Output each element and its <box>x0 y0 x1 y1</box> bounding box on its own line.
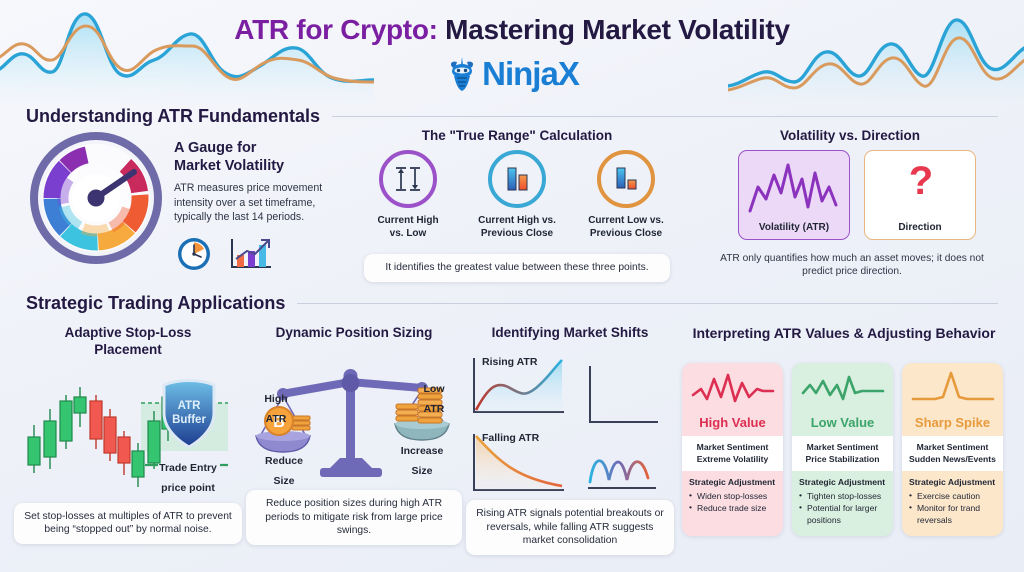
page-title: ATR for Crypto: Mastering Market Volatil… <box>0 14 1024 46</box>
panel3-title: Identifying Market Shifts <box>466 325 674 342</box>
clock-icon <box>176 236 212 272</box>
card-sentiment: Market Sentiment Sudden News/Events <box>902 436 1003 471</box>
rising-atr-label: Rising ATR <box>482 352 537 370</box>
low-atr-line2: ATR <box>424 403 445 415</box>
reduce-size-line1: Reduce <box>265 455 303 467</box>
increase-size-line1: Increase <box>401 445 444 457</box>
true-range-title: The "True Range" Calculation <box>352 128 682 145</box>
panel1-title-line2: Placement <box>94 342 162 357</box>
section-divider <box>332 116 998 117</box>
section-title-strategic: Strategic Trading Applications <box>26 293 285 314</box>
bar-chart-growth-icon <box>228 236 274 272</box>
card-sentiment: Market Sentiment Price Stabilization <box>792 436 893 471</box>
gauge-heading-line1: A Gauge for <box>174 140 256 156</box>
panel1-caption: Set stop-losses at multiples of ATR to p… <box>14 503 242 544</box>
gauge-heading-line2: Market Volatility <box>174 158 284 174</box>
low-volatility-sparkline <box>792 363 893 415</box>
true-range-block: The "True Range" Calculation Current Hig… <box>352 128 682 288</box>
true-range-item: Current High vs. Low <box>358 150 458 241</box>
sentiment-value: Extreme Volatility <box>697 454 768 464</box>
two-bars-equal-icon <box>488 150 546 208</box>
brand-name: NinjaX <box>482 55 579 93</box>
page-title-rest: Mastering Market Volatility <box>438 14 790 45</box>
sentiment-label: Market Sentiment <box>807 442 879 452</box>
card-low-value: Low Value Market Sentiment Price Stabili… <box>792 363 893 536</box>
panel4-title: Interpreting ATR Values & Adjusting Beha… <box>678 325 1010 343</box>
gauge-mini-icons <box>176 236 274 272</box>
sentiment-value: Sudden News/Events <box>909 454 996 464</box>
volatility-direction-title: Volatility vs. Direction <box>700 128 1000 145</box>
panel-dynamic-position-sizing: Dynamic Position Sizing <box>246 325 462 545</box>
brand-logo: NinjaX <box>0 55 1024 93</box>
card-high-value: High Value Market Sentiment Extreme Vola… <box>682 363 783 536</box>
falling-atr-label: Falling ATR <box>482 428 539 446</box>
card-sentiment: Market Sentiment Extreme Volatility <box>682 436 783 471</box>
zigzag-volatility-icon <box>746 157 844 219</box>
question-mark-icon: ? <box>865 159 977 204</box>
card-title: Sharp Spike <box>902 415 1003 436</box>
panel-identifying-market-shifts: Identifying Market Shifts <box>466 325 674 555</box>
card-title: High Value <box>682 415 783 436</box>
section-title-fundamentals: Understanding ATR Fundamentals <box>26 106 320 127</box>
ninja-mask-icon <box>445 56 479 92</box>
high-volatility-sparkline <box>682 363 783 415</box>
panel2-title: Dynamic Position Sizing <box>246 325 462 342</box>
true-range-item: Current Low vs. Previous Close <box>576 150 676 241</box>
card-sharp-spike: Sharp Spike Market Sentiment Sudden News… <box>902 363 1003 536</box>
bullet: Widen stop-losses <box>689 491 777 503</box>
sentiment-label: Market Sentiment <box>917 442 989 452</box>
tr-label-line1: Current High <box>377 215 438 226</box>
tr-label-line2: Previous Close <box>481 228 553 239</box>
panel1-title-line1: Adaptive Stop-Loss <box>65 325 192 340</box>
bullet: Potential for larger positions <box>799 503 887 526</box>
true-range-note: It identifies the greatest value between… <box>364 254 670 282</box>
bullet: Tighten stop-losses <box>799 491 887 503</box>
adjust-label: Strategic Adjustment <box>909 477 997 489</box>
candlestick-chart-with-shield: ATR Buffer Trade Entry price point <box>14 365 242 495</box>
page-title-accent: ATR for Crypto: <box>234 14 437 45</box>
volatility-direction-block: Volatility vs. Direction Volatility (ATR… <box>700 128 1000 288</box>
card-title: Low Value <box>792 415 893 436</box>
volatility-direction-footer: ATR only quantifies how much an asset mo… <box>710 252 994 279</box>
card-adjustment: Strategic Adjustment Tighten stop-losses… <box>792 471 893 535</box>
card-adjustment: Strategic Adjustment Exercise caution Mo… <box>902 471 1003 535</box>
volatility-direction-cards: Volatility (ATR) ? Direction <box>738 150 976 240</box>
trend-mini-charts: Rising ATR Falling ATR <box>466 350 674 498</box>
high-atr-line2: ATR <box>266 413 287 425</box>
card-adjustment: Strategic Adjustment Widen stop-losses R… <box>682 471 783 524</box>
header: ATR for Crypto: Mastering Market Volatil… <box>0 0 1024 108</box>
increase-size-line2: Size <box>411 465 432 477</box>
true-range-items: Current High vs. Low Curr <box>352 150 682 241</box>
panel-adaptive-stop-loss: Adaptive Stop-Loss Placement <box>14 325 242 544</box>
sentiment-label: Market Sentiment <box>697 442 769 452</box>
trade-entry-line2: price point <box>161 482 215 494</box>
high-atr-line1: High <box>264 393 287 405</box>
adjust-label: Strategic Adjustment <box>689 477 777 489</box>
balance-scale-with-coins: B High ATR Low ATR <box>246 346 462 488</box>
gauge-copy: A Gauge for Market Volatility ATR measur… <box>174 140 346 224</box>
gauge-block: A Gauge for Market Volatility ATR measur… <box>24 132 344 282</box>
reduce-size-label: Reduce Size <box>252 450 316 490</box>
reduce-size-line2: Size <box>273 475 294 487</box>
shield-label-line1: ATR <box>178 400 201 412</box>
interpreting-cards: High Value Market Sentiment Extreme Vola… <box>682 363 1003 536</box>
gauge-body-text: ATR measures price movement intensity ov… <box>174 181 346 224</box>
sentiment-value: Price Stabilization <box>805 454 879 464</box>
low-atr-label: Low ATR <box>408 378 460 418</box>
tr-label-line2: Previous Close <box>590 228 662 239</box>
true-range-item: Current High vs. Previous Close <box>467 150 567 241</box>
infographic-canvas: ATR for Crypto: Mastering Market Volatil… <box>0 0 1024 572</box>
volatility-card: Volatility (ATR) <box>738 150 850 240</box>
panel2-caption: Reduce position sizes during high ATR pe… <box>246 490 462 545</box>
direction-card: ? Direction <box>864 150 976 240</box>
volatility-card-label: Volatility (ATR) <box>759 222 829 233</box>
high-low-range-icon <box>379 150 437 208</box>
panel1-title: Adaptive Stop-Loss Placement <box>14 325 242 359</box>
high-atr-label: High ATR <box>250 388 302 428</box>
low-atr-line1: Low <box>424 383 445 395</box>
direction-card-label: Direction <box>898 222 941 233</box>
increase-size-label: Increase Size <box>386 440 458 480</box>
spike-sparkline <box>902 363 1003 415</box>
two-bars-low-icon <box>597 150 655 208</box>
tr-label-line2: vs. Low <box>390 228 427 239</box>
panel3-caption: Rising ATR signals potential breakouts o… <box>466 500 674 555</box>
bullet: Monitor for trand reversals <box>909 503 997 526</box>
bullet: Exercise caution <box>909 491 997 503</box>
trade-entry-label: Trade Entry price point <box>142 457 234 497</box>
section-header-strategic: Strategic Trading Applications <box>26 293 998 314</box>
shield-label-line2: Buffer <box>172 414 206 426</box>
adjust-label: Strategic Adjustment <box>799 477 887 489</box>
tr-label-line1: Current High vs. <box>478 215 556 226</box>
section-divider <box>297 303 998 304</box>
section-header-fundamentals: Understanding ATR Fundamentals <box>26 106 998 127</box>
trade-entry-line1: Trade Entry <box>159 462 217 474</box>
speedometer-gauge-icon <box>30 132 162 264</box>
panel-interpreting-atr: Interpreting ATR Values & Adjusting Beha… <box>678 325 1010 343</box>
bullet: Reduce trade size <box>689 503 777 515</box>
tr-label-line1: Current Low vs. <box>588 215 664 226</box>
